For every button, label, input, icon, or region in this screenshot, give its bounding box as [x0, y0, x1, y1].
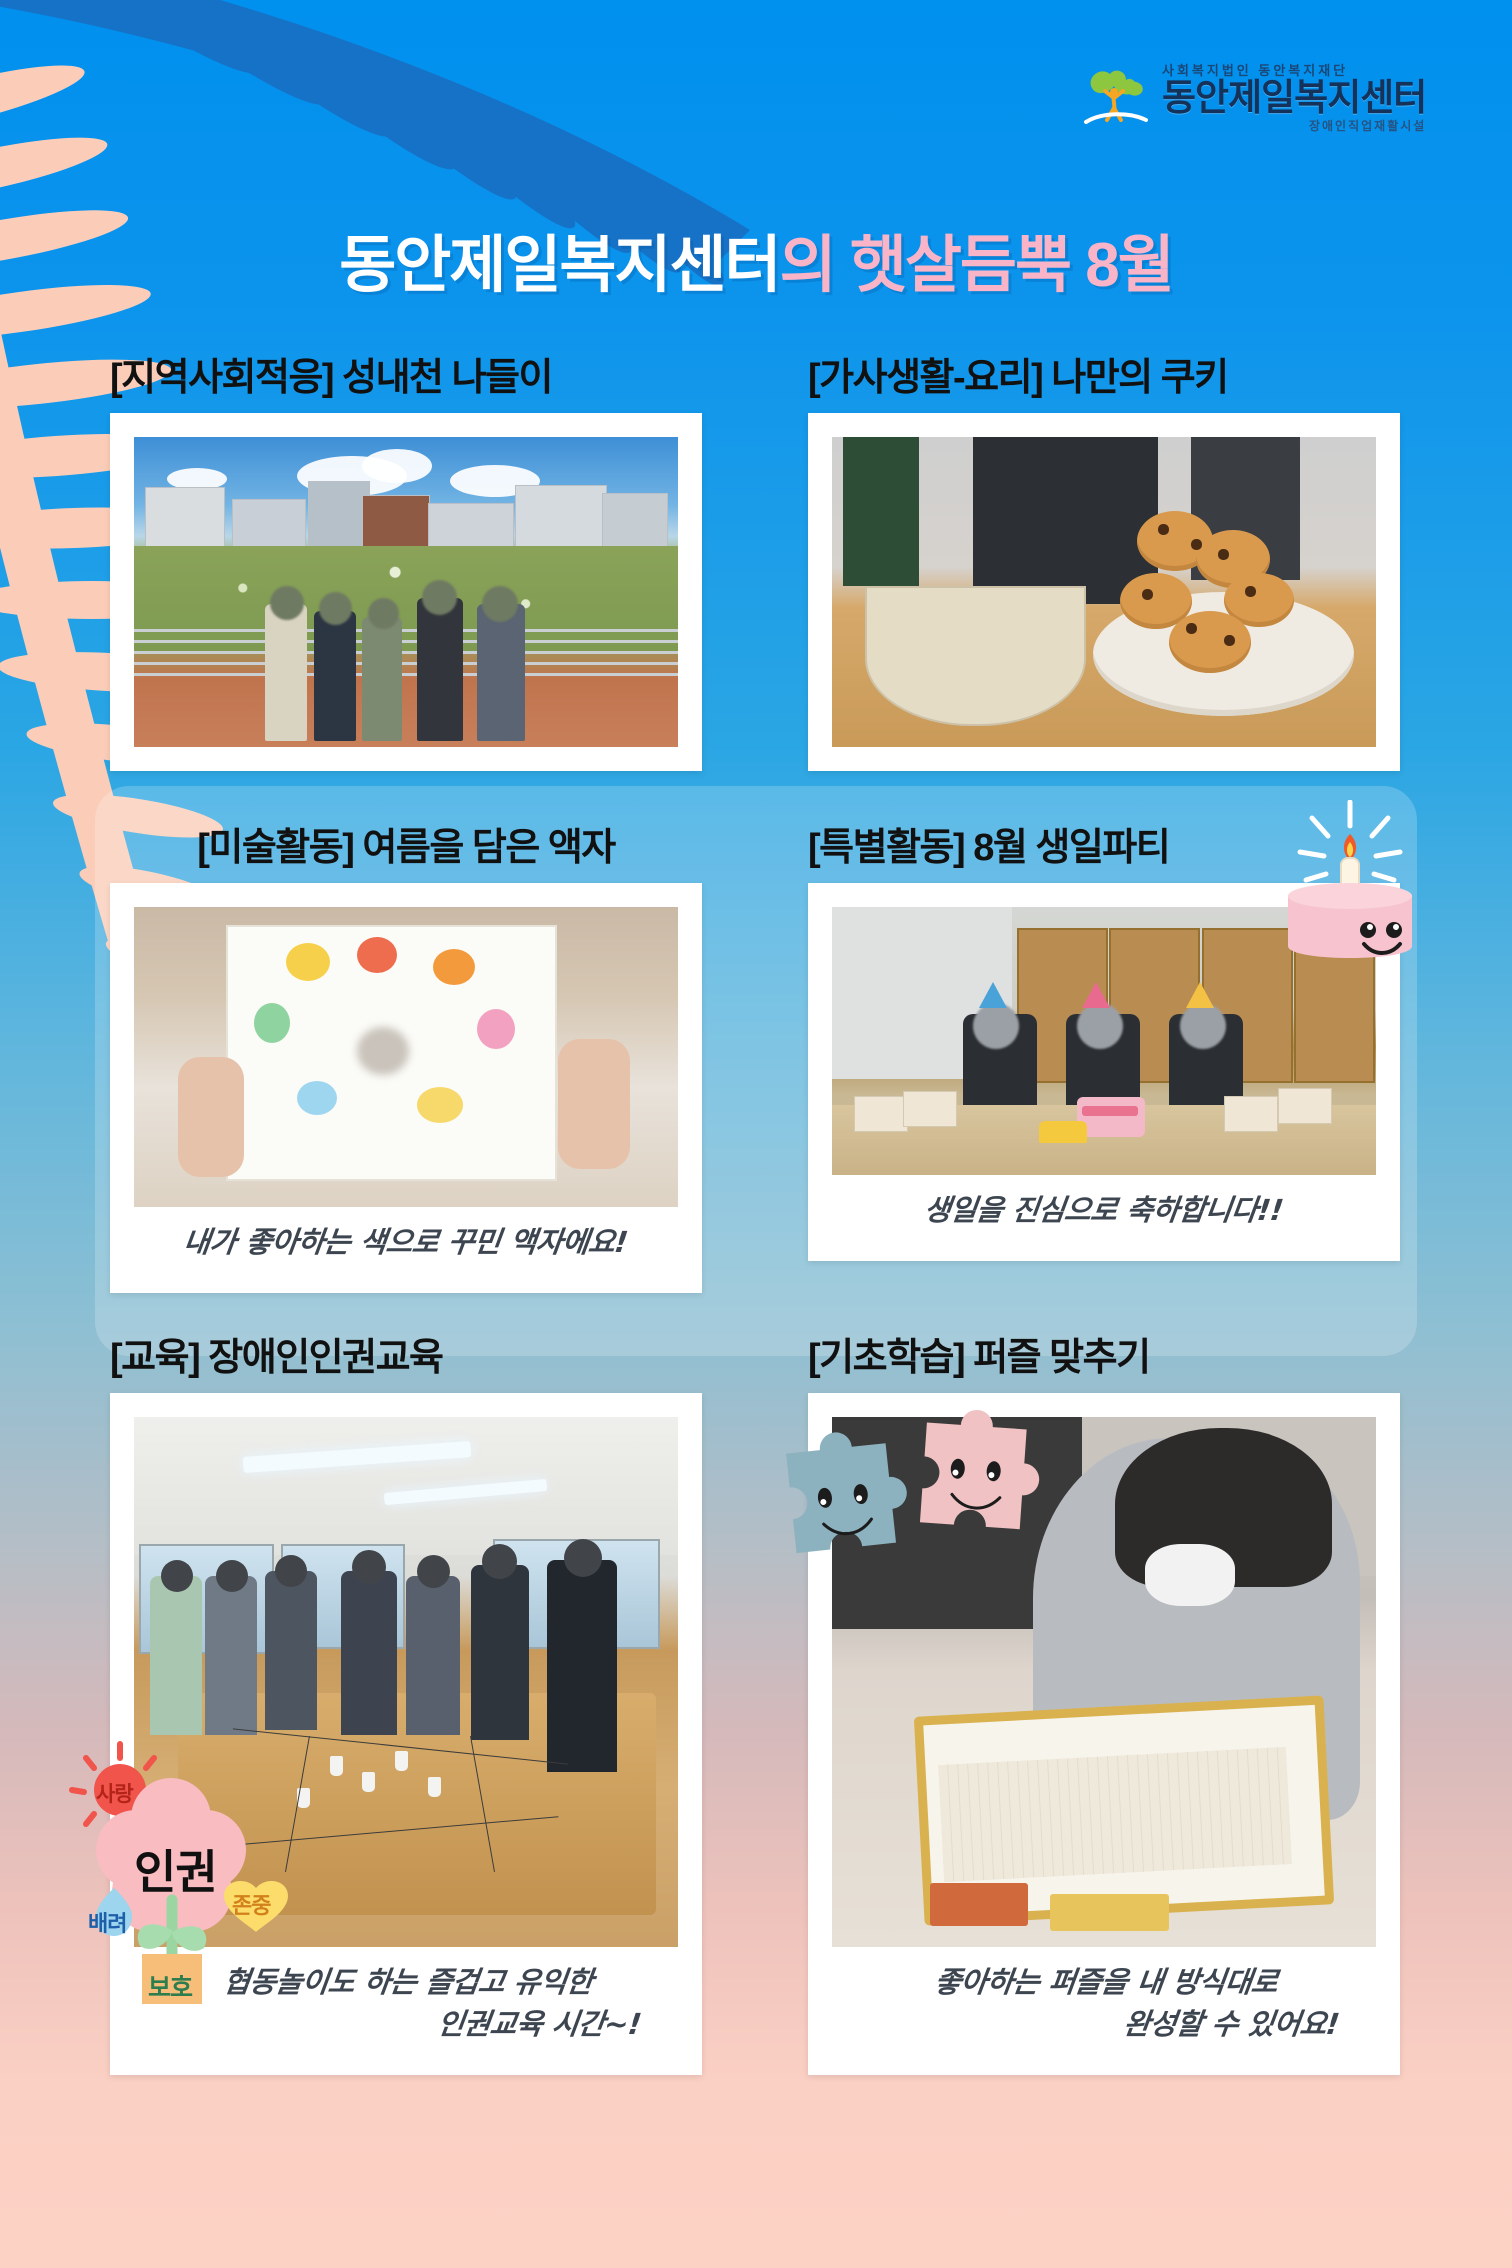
- logo-org-name: 동안제일복지센터: [1162, 79, 1426, 116]
- card-rights-education: [교육] 장애인인권교육: [110, 1326, 702, 2075]
- palm-frond-top-dark-icon: [0, 0, 780, 360]
- photo-art-frame: [134, 907, 678, 1207]
- card-birthday-party: [특별활동] 8월 생일파티: [808, 816, 1400, 1261]
- photo-frame: 좋아하는 퍼즐을 내 방식대로 완성할 수 있어요!: [808, 1393, 1400, 2075]
- photo-community-outing: [134, 437, 678, 747]
- photo-frame: 내가 좋아하는 색으로 꾸민 액자에요!: [110, 883, 702, 1293]
- page-title-pink-part: 의 햇살듬뿍 8월: [780, 231, 1173, 300]
- card-caption: 내가 좋아하는 색으로 꾸민 액자에요!: [130, 1207, 682, 1269]
- card-caption-line-1: 협동놀이도 하는 즐겁고 유익한: [144, 1961, 673, 2003]
- card-cooking-cookie: [가사생활-요리] 나만의 쿠키: [808, 346, 1400, 771]
- tree-with-person-icon: [1080, 62, 1152, 134]
- photo-rights-education: [134, 1417, 678, 1947]
- organization-logo: 사회복지법인 동안복지재단 동안제일복지센터 장애인직업재활시설: [1080, 45, 1450, 150]
- card-heading: [가사생활-요리] 나만의 쿠키: [808, 346, 1400, 401]
- photo-cooking-cookie: [832, 437, 1376, 747]
- photo-frame: 생일을 진심으로 축하합니다!!: [808, 883, 1400, 1261]
- card-caption-line-1: 좋아하는 퍼즐을 내 방식대로: [842, 1961, 1371, 2003]
- logo-sub-line: 장애인직업재활시설: [1162, 120, 1426, 132]
- card-caption: 좋아하는 퍼즐을 내 방식대로 완성할 수 있어요!: [826, 1947, 1383, 2051]
- photo-puzzle-learning: [832, 1417, 1376, 1947]
- card-caption: 협동놀이도 하는 즐겁고 유익한 인권교육 시간~!: [128, 1947, 685, 2051]
- photo-frame: 협동놀이도 하는 즐겁고 유익한 인권교육 시간~!: [110, 1393, 702, 2075]
- card-community-outing: [지역사회적응] 성내천 나들이: [110, 346, 702, 771]
- card-heading: [미술활동] 여름을 담은 액자: [110, 816, 702, 871]
- card-heading: [기초학습] 퍼즐 맞추기: [808, 1326, 1400, 1381]
- card-caption-line-2: 인권교육 시간~!: [138, 2003, 667, 2045]
- page-title-white-part: 동안제일복지센터: [339, 231, 779, 300]
- card-puzzle-learning: [기초학습] 퍼즐 맞추기 좋아하는 퍼즐을 내 방식대로 완성할 수 있어요!: [808, 1326, 1400, 2075]
- page-title: 동안제일복지센터의 햇살듬뿍 8월: [0, 214, 1512, 304]
- photo-frame: [110, 413, 702, 771]
- card-heading: [특별활동] 8월 생일파티: [808, 816, 1400, 871]
- card-caption-line-2: 완성할 수 있어요!: [836, 2003, 1365, 2045]
- card-heading: [지역사회적응] 성내천 나들이: [110, 346, 702, 401]
- card-art-frame: [미술활동] 여름을 담은 액자 내가 좋아하는 색으로 꾸민 액자에요!: [110, 816, 702, 1293]
- logo-top-line: 사회복지법인 동안복지재단: [1162, 64, 1426, 77]
- card-heading: [교육] 장애인인권교육: [110, 1326, 702, 1381]
- photo-frame: [808, 413, 1400, 771]
- photo-birthday-party: [832, 907, 1376, 1175]
- card-caption: 생일을 진심으로 축하합니다!!: [828, 1175, 1380, 1237]
